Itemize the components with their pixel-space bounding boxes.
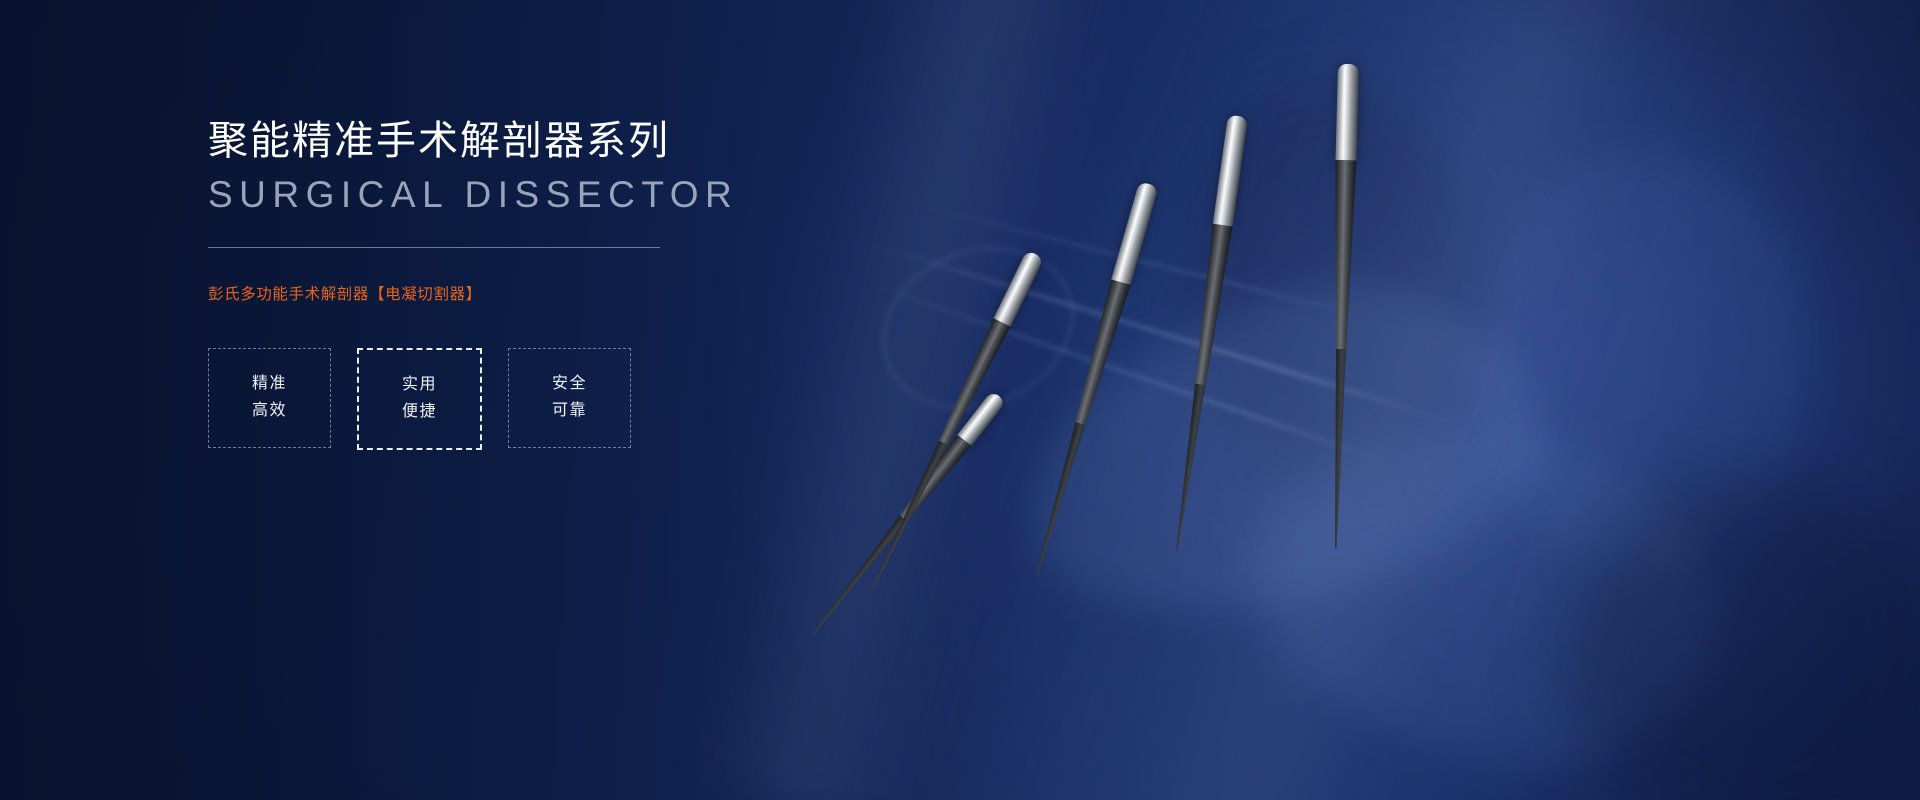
feature-box-3-line-1: 安全 [552,376,587,392]
product-name-label: 彭氏多功能手术解剖器【电凝切割器】 [208,282,848,304]
feature-box-2-line-2: 便捷 [402,404,437,420]
feature-box-list: 精准 高效 实用 便捷 安全 可靠 [208,348,848,450]
feature-box-3-line-2: 可靠 [552,403,587,419]
feature-box-1: 精准 高效 [208,348,331,448]
title-divider [208,247,660,248]
hero-banner: 聚能精准手术解剖器系列 SURGICAL DISSECTOR 彭氏多功能手术解剖… [0,0,1920,800]
feature-box-2: 实用 便捷 [357,348,482,450]
feature-box-3: 安全 可靠 [508,348,631,448]
feature-box-1-line-2: 高效 [252,403,287,419]
feature-box-1-line-1: 精准 [252,376,287,392]
page-title: 聚能精准手术解剖器系列 [208,118,848,165]
page-subtitle-english: SURGICAL DISSECTOR [208,175,848,216]
hero-content: 聚能精准手术解剖器系列 SURGICAL DISSECTOR 彭氏多功能手术解剖… [208,118,848,450]
feature-box-2-line-1: 实用 [402,377,437,393]
